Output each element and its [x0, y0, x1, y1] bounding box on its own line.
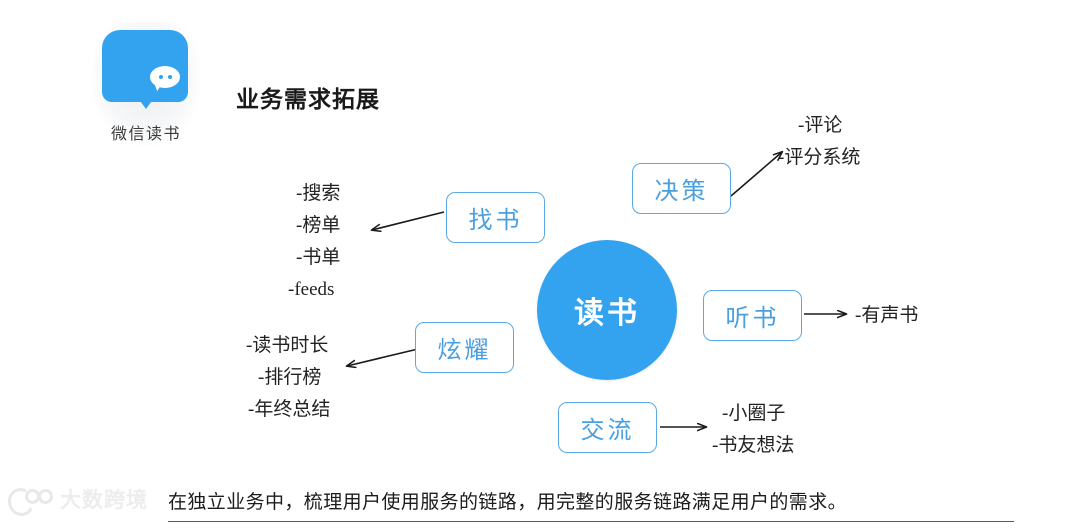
- leaf-list-zhaoshu: -搜索 -榜单 -书单 -feeds: [288, 178, 340, 306]
- category-label: 决策: [655, 171, 709, 206]
- leaf-item: -书友想法: [712, 430, 794, 462]
- category-label: 听书: [726, 298, 780, 333]
- category-label: 交流: [581, 410, 635, 445]
- page-title: 业务需求拓展: [236, 80, 380, 114]
- leaf-list-tingshu: -有声书: [855, 300, 918, 332]
- category-label: 找书: [469, 200, 523, 235]
- chat-dot-left: [159, 75, 163, 79]
- leaf-item: -feeds: [288, 274, 340, 306]
- app-logo-caption: 微信读书: [92, 120, 200, 144]
- leaf-item: -评分系统: [778, 142, 860, 174]
- leaf-item: -榜单: [288, 210, 340, 242]
- category-label: 炫耀: [438, 330, 492, 365]
- arrow-zhaoshu: [372, 212, 444, 230]
- watermark-logo-icon: [8, 484, 54, 514]
- leaf-item: -读书时长: [246, 330, 330, 362]
- center-node-label: 读书: [574, 288, 640, 332]
- caption-underline: [168, 521, 1014, 522]
- leaf-item: -搜索: [288, 178, 340, 210]
- arrow-juece: [731, 152, 782, 196]
- slide-canvas: 微信读书 业务需求拓展 读书 找书 炫耀 决策 听书 交: [0, 0, 1080, 529]
- leaf-item: -书单: [288, 242, 340, 274]
- chat-bubble-icon: [147, 66, 181, 92]
- speech-bubble-tail: [138, 98, 154, 109]
- category-box-xuanyao[interactable]: 炫耀: [415, 322, 514, 373]
- category-box-zhaoshu[interactable]: 找书: [446, 192, 545, 243]
- watermark-ring-right: [38, 489, 53, 504]
- chat-dot-right: [168, 75, 172, 79]
- leaf-list-jiaoliu: -小圈子 -书友想法: [712, 398, 794, 462]
- slide-caption: 在独立业务中，梳理用户使用服务的链路，用完整的服务链路满足用户的需求。: [168, 487, 1014, 521]
- wechat-reading-app-icon: [102, 30, 188, 116]
- leaf-item: -小圈子: [712, 398, 794, 430]
- category-box-tingshu[interactable]: 听书: [703, 290, 802, 341]
- leaf-item: -年终总结: [246, 394, 330, 426]
- leaf-item: -评论: [778, 110, 860, 142]
- slide-caption-block: 在独立业务中，梳理用户使用服务的链路，用完整的服务链路满足用户的需求。: [168, 487, 1014, 522]
- leaf-item: -排行榜: [246, 362, 330, 394]
- category-box-juece[interactable]: 决策: [632, 163, 731, 214]
- watermark-text: 大数跨境: [60, 484, 148, 514]
- leaf-item: -有声书: [855, 300, 918, 332]
- arrow-xuanyao: [347, 349, 418, 366]
- category-box-jiaoliu[interactable]: 交流: [558, 402, 657, 453]
- leaf-list-xuanyao: -读书时长 -排行榜 -年终总结: [246, 330, 330, 426]
- center-node-reading[interactable]: 读书: [537, 240, 677, 380]
- app-logo-block: 微信读书: [92, 22, 200, 146]
- leaf-list-juece: -评论 -评分系统: [778, 110, 860, 174]
- watermark: 大数跨境: [8, 484, 148, 514]
- chat-bubble-pointer: [152, 82, 161, 91]
